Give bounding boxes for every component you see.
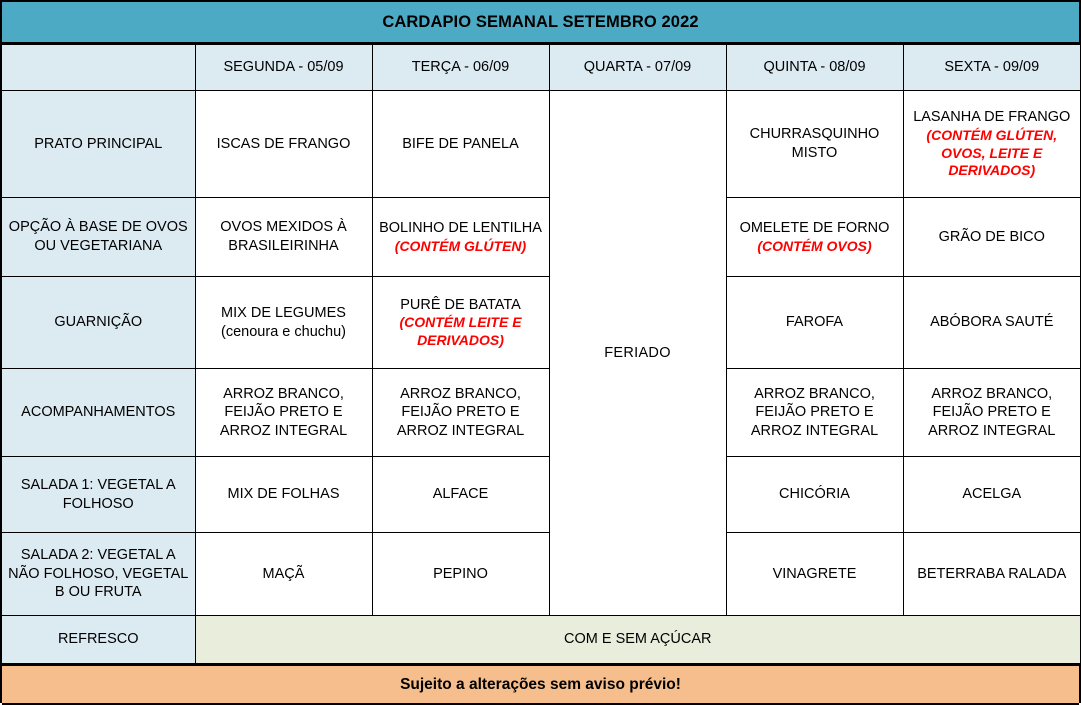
weekly-menu-board: CARDAPIO SEMANAL SETEMBRO 2022 SEGUNDA -…	[0, 0, 1081, 703]
cell-guarnicao-segunda: MIX DE LEGUMES (cenoura e chuchu)	[195, 277, 372, 369]
meal-name: PEPINO	[433, 566, 488, 582]
meal-name: ARROZ BRANCO, FEIJÃO PRETO E ARROZ INTEG…	[220, 386, 347, 439]
meal-name: ARROZ BRANCO, FEIJÃO PRETO E ARROZ INTEG…	[928, 386, 1055, 439]
table-row: SALADA 2: VEGETAL A NÃO FOLHOSO, VEGETAL…	[2, 533, 1080, 616]
meal-name: ARROZ BRANCO, FEIJÃO PRETO E ARROZ INTEG…	[751, 386, 878, 439]
meal-name: ALFACE	[433, 486, 489, 502]
cell-salada1-terca: ALFACE	[372, 457, 549, 533]
meal-name: ABÓBORA SAUTÉ	[930, 314, 1053, 330]
row-label-opcao-ovos-vegetariana: OPÇÃO À BASE DE OVOS OU VEGETARIANA	[2, 198, 195, 277]
meal-name: MIX DE FOLHAS	[228, 486, 340, 502]
cell-opcao-sexta: GRÃO DE BICO	[903, 198, 1080, 277]
meal-name: LASANHA DE FRANGO	[913, 109, 1070, 125]
cell-opcao-terca: BOLINHO DE LENTILHA (CONTÉM GLÚTEN)	[372, 198, 549, 277]
meal-name: GRÃO DE BICO	[939, 229, 1045, 245]
meal-name: CHURRASQUINHO MISTO	[750, 126, 880, 161]
cell-prato-principal-segunda: ISCAS DE FRANGO	[195, 91, 372, 198]
cell-prato-principal-terca: BIFE DE PANELA	[372, 91, 549, 198]
day-header-quinta: QUINTA - 08/09	[726, 45, 903, 91]
cell-salada1-sexta: ACELGA	[903, 457, 1080, 533]
meal-name: MAÇÃ	[263, 566, 305, 582]
cell-salada1-quinta: CHICÓRIA	[726, 457, 903, 533]
cell-holiday-quarta: FERIADO	[549, 91, 726, 616]
cell-guarnicao-terca: PURÊ DE BATATA (CONTÉM LEITE E DERIVADOS…	[372, 277, 549, 369]
row-label-acompanhamentos: ACOMPANHAMENTOS	[2, 369, 195, 457]
row-label-prato-principal: PRATO PRINCIPAL	[2, 91, 195, 198]
cell-acompanhamentos-quinta: ARROZ BRANCO, FEIJÃO PRETO E ARROZ INTEG…	[726, 369, 903, 457]
cell-salada2-terca: PEPINO	[372, 533, 549, 616]
allergen-note: (CONTÉM LEITE E DERIVADOS)	[377, 314, 545, 349]
day-header-segunda: SEGUNDA - 05/09	[195, 45, 372, 91]
meal-name: PURÊ DE BATATA	[400, 297, 521, 313]
cell-acompanhamentos-terca: ARROZ BRANCO, FEIJÃO PRETO E ARROZ INTEG…	[372, 369, 549, 457]
table-row: SALADA 1: VEGETAL A FOLHOSO MIX DE FOLHA…	[2, 457, 1080, 533]
meal-name: FAROFA	[786, 314, 843, 330]
meal-name: OVOS MEXIDOS À BRASILEIRINHA	[220, 219, 347, 254]
day-header-terca: TERÇA - 06/09	[372, 45, 549, 91]
meal-name: CHICÓRIA	[779, 486, 850, 502]
meal-name: ACELGA	[962, 486, 1021, 502]
meal-name: MIX DE LEGUMES	[221, 305, 346, 321]
cell-opcao-quinta: OMELETE DE FORNO (CONTÉM OVOS)	[726, 198, 903, 277]
table-row: GUARNIÇÃO MIX DE LEGUMES (cenoura e chuc…	[2, 277, 1080, 369]
allergen-note: (CONTÉM GLÚTEN)	[377, 238, 545, 256]
table-row: OPÇÃO À BASE DE OVOS OU VEGETARIANA OVOS…	[2, 198, 1080, 277]
meal-name: BOLINHO DE LENTILHA	[379, 220, 542, 236]
page-title: CARDAPIO SEMANAL SETEMBRO 2022	[2, 0, 1079, 44]
cell-guarnicao-sexta: ABÓBORA SAUTÉ	[903, 277, 1080, 369]
meal-name: OMELETE DE FORNO	[740, 220, 890, 236]
cell-prato-principal-quinta: CHURRASQUINHO MISTO	[726, 91, 903, 198]
menu-table: SEGUNDA - 05/09 TERÇA - 06/09 QUARTA - 0…	[2, 44, 1080, 664]
corner-cell	[2, 45, 195, 91]
cell-prato-principal-sexta: LASANHA DE FRANGO (CONTÉM GLÚTEN, OVOS, …	[903, 91, 1080, 198]
cell-opcao-segunda: OVOS MEXIDOS À BRASILEIRINHA	[195, 198, 372, 277]
day-header-quarta: QUARTA - 07/09	[549, 45, 726, 91]
meal-name: ISCAS DE FRANGO	[217, 136, 351, 152]
day-header-sexta: SEXTA - 09/09	[903, 45, 1080, 91]
cell-acompanhamentos-segunda: ARROZ BRANCO, FEIJÃO PRETO E ARROZ INTEG…	[195, 369, 372, 457]
cell-refresco-value: COM E SEM AÇÚCAR	[195, 616, 1080, 664]
allergen-note: (CONTÉM OVOS)	[731, 238, 899, 256]
allergen-note: (CONTÉM GLÚTEN, OVOS, LEITE E DERIVADOS)	[908, 127, 1077, 180]
row-label-salada-1: SALADA 1: VEGETAL A FOLHOSO	[2, 457, 195, 533]
meal-name: ARROZ BRANCO, FEIJÃO PRETO E ARROZ INTEG…	[397, 386, 524, 439]
table-header-row: SEGUNDA - 05/09 TERÇA - 06/09 QUARTA - 0…	[2, 45, 1080, 91]
row-label-refresco: REFRESCO	[2, 616, 195, 664]
cell-salada2-segunda: MAÇÃ	[195, 533, 372, 616]
cell-guarnicao-quinta: FAROFA	[726, 277, 903, 369]
meal-detail: (cenoura e chuchu)	[200, 323, 368, 342]
cell-acompanhamentos-sexta: ARROZ BRANCO, FEIJÃO PRETO E ARROZ INTEG…	[903, 369, 1080, 457]
table-row: PRATO PRINCIPAL ISCAS DE FRANGO BIFE DE …	[2, 91, 1080, 198]
cell-salada2-quinta: VINAGRETE	[726, 533, 903, 616]
meal-name: BETERRABA RALADA	[917, 566, 1066, 582]
table-row-refresco: REFRESCO COM E SEM AÇÚCAR	[2, 616, 1080, 664]
cell-salada1-segunda: MIX DE FOLHAS	[195, 457, 372, 533]
row-label-salada-2: SALADA 2: VEGETAL A NÃO FOLHOSO, VEGETAL…	[2, 533, 195, 616]
meal-name: VINAGRETE	[773, 566, 857, 582]
table-row: ACOMPANHAMENTOS ARROZ BRANCO, FEIJÃO PRE…	[2, 369, 1080, 457]
cell-salada2-sexta: BETERRABA RALADA	[903, 533, 1080, 616]
row-label-guarnicao: GUARNIÇÃO	[2, 277, 195, 369]
meal-name: BIFE DE PANELA	[402, 136, 519, 152]
disclaimer-note: Sujeito a alterações sem aviso prévio!	[2, 664, 1079, 705]
